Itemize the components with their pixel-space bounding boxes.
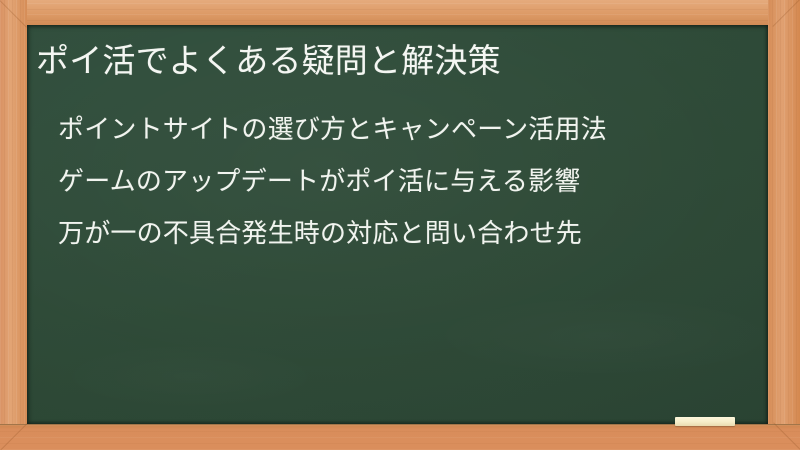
frame-miter-bottom-left bbox=[0, 423, 28, 450]
frame-rail-top bbox=[0, 0, 800, 26]
board-line-1: ポイントサイトの選び方とキャンペーン活用法 bbox=[58, 103, 758, 155]
frame-miter-bottom-right bbox=[773, 422, 800, 450]
frame-rail-left bbox=[0, 0, 27, 450]
board-line-2: ゲームのアップデートがポイ活に与える影響 bbox=[58, 155, 758, 207]
frame-miter-top-left bbox=[0, 0, 27, 28]
chalkboard-surface: ポイ活でよくある疑問と解決策 ポイントサイトの選び方とキャンペーン活用法 ゲーム… bbox=[27, 25, 768, 424]
frame-miter-top-right bbox=[772, 0, 800, 27]
board-line-list: ポイントサイトの選び方とキャンペーン活用法 ゲームのアップデートがポイ活に与える… bbox=[58, 103, 758, 259]
blackboard-frame: ポイ活でよくある疑問と解決策 ポイントサイトの選び方とキャンペーン活用法 ゲーム… bbox=[0, 0, 800, 450]
chalk-stick bbox=[675, 417, 735, 426]
board-line-3: 万が一の不具合発生時の対応と問い合わせ先 bbox=[58, 207, 758, 259]
frame-ledge-bottom bbox=[0, 424, 800, 450]
frame-rail-right bbox=[768, 0, 800, 450]
board-title: ポイ活でよくある疑問と解決策 bbox=[36, 39, 756, 83]
